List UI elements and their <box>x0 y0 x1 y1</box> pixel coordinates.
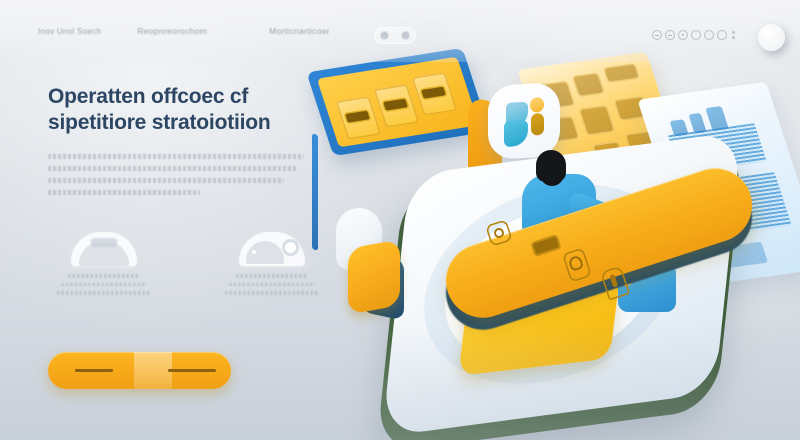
orange-stool <box>348 239 400 314</box>
page-title: Operatten offcoec cf sipetitiore stratoi… <box>48 84 348 136</box>
feature-text-line <box>61 283 147 287</box>
feature-one-text <box>48 274 160 295</box>
nav-links: Inov Unol Soech Reopnreorochom Morticnar… <box>38 26 330 36</box>
headline-line-2: sipetitiore stratoiotiion <box>48 110 348 136</box>
avatar[interactable] <box>758 24 785 51</box>
circle-outline-icon[interactable] <box>652 30 662 40</box>
primary-cta-button[interactable] <box>48 352 231 389</box>
body-text-line-1 <box>48 154 304 159</box>
feature-list <box>48 232 328 300</box>
circle-outline-icon-3[interactable] <box>704 30 714 40</box>
nav-link-one[interactable]: Inov Unol Soech <box>38 27 101 36</box>
cta-dash-right <box>168 369 216 372</box>
feature-text-line <box>225 291 319 295</box>
nav-link-three[interactable]: Morticnarticoer <box>269 26 330 36</box>
feature-text-line <box>236 274 308 278</box>
nav-link-two[interactable]: Reopnreorochom <box>137 26 207 36</box>
nav-toggle[interactable] <box>374 27 416 44</box>
body-text-line-3 <box>48 178 284 183</box>
toggle-dot-right <box>401 31 410 40</box>
more-dots-icon[interactable] <box>732 31 735 39</box>
app-badge-icon <box>488 82 560 160</box>
feature-two-text <box>216 274 328 295</box>
arch-eye-icon <box>239 232 305 266</box>
cta-sheen <box>134 352 172 389</box>
feature-text-line <box>229 283 315 287</box>
toggle-dot-left <box>380 31 389 40</box>
circle-minus-icon[interactable] <box>665 30 675 40</box>
circle-outline-icon-2[interactable] <box>691 30 701 40</box>
cta-dash-left <box>75 369 113 372</box>
headline-line-1: Operatten offcoec cf <box>48 85 248 108</box>
hero-section: Operatten offcoec cf sipetitiore stratoi… <box>48 84 348 202</box>
body-text-line-2 <box>48 166 298 171</box>
feature-one[interactable] <box>48 232 160 300</box>
feature-text-line <box>68 274 140 278</box>
body-text-line-4 <box>48 190 200 195</box>
circle-dot-icon[interactable] <box>678 30 688 40</box>
hero-body-copy <box>48 154 348 195</box>
landing-page-root: Inov Unol Soech Reopnreorochom Morticnar… <box>0 0 800 440</box>
isometric-office-illustration <box>300 22 800 422</box>
feature-text-line <box>57 291 151 295</box>
arch-dome-icon <box>71 232 137 266</box>
nav-icon-row <box>652 30 735 40</box>
circle-outline-icon-4[interactable] <box>717 30 727 40</box>
feature-two[interactable] <box>216 232 328 300</box>
